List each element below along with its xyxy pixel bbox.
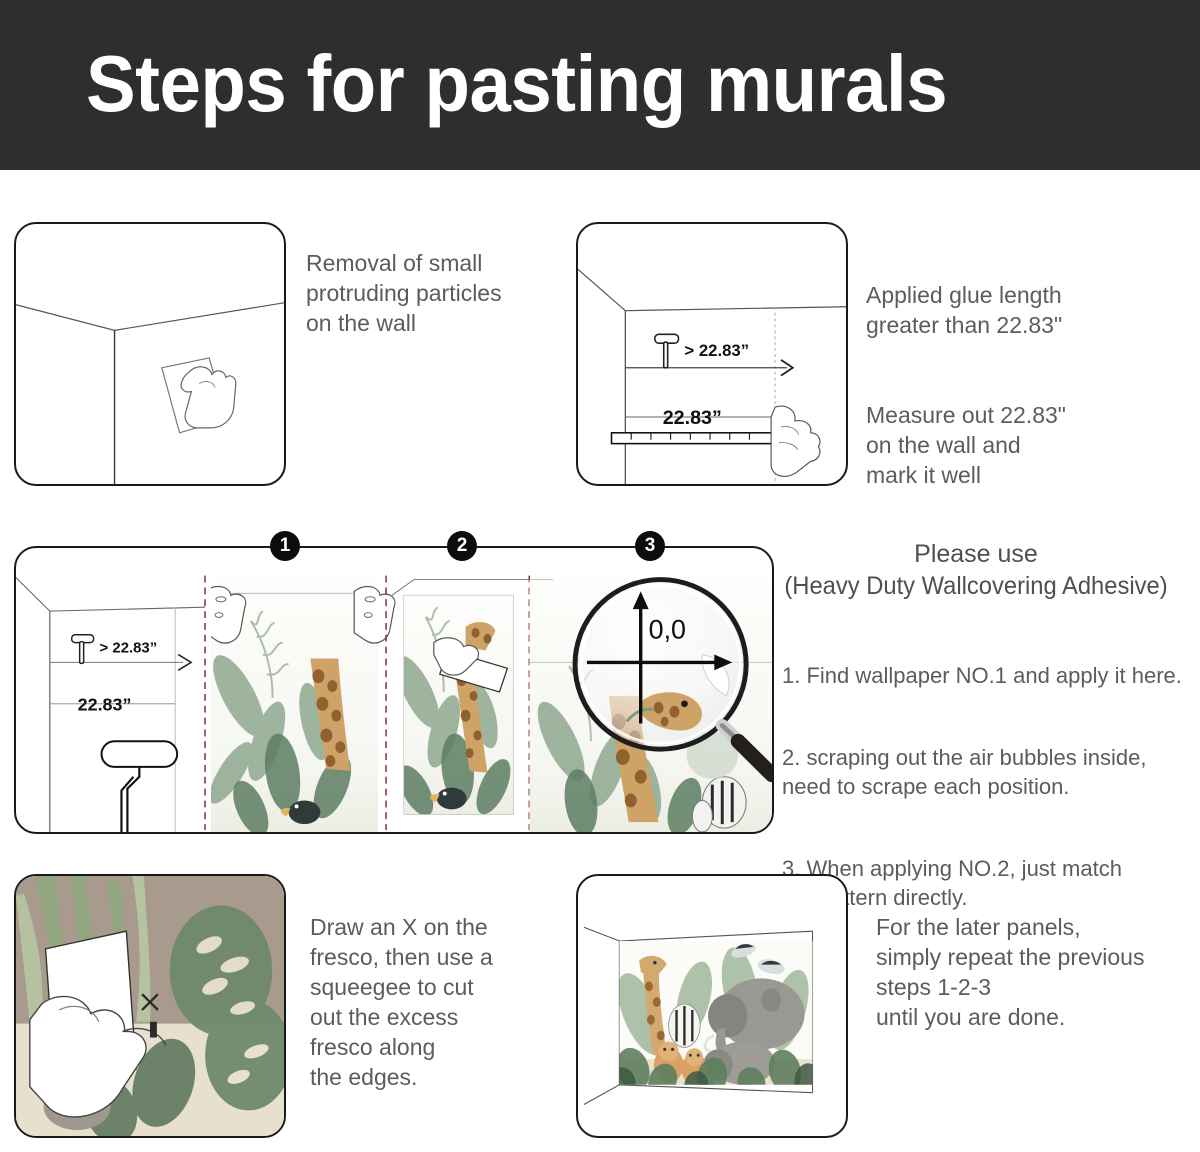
panel-step4-trim-excess xyxy=(14,874,286,1138)
panel-step2-glue-and-measure: > 22.83” 22.83” xyxy=(576,222,848,486)
roller-length-label: > 22.83” xyxy=(684,341,749,360)
step-badge-2: 2 xyxy=(447,531,477,561)
page-title: Steps for pasting murals xyxy=(86,36,947,132)
caption-step1: Removal of small protruding particles on… xyxy=(306,248,576,338)
wall-corner-illustration xyxy=(16,224,284,484)
caption-step2-measure: Measure out 22.83" on the wall and mark … xyxy=(866,400,1186,490)
finished-mural-illustration xyxy=(578,876,846,1136)
wide-tape-label: 22.83” xyxy=(78,695,132,715)
origin-label: 0,0 xyxy=(649,615,686,645)
panel-step1-wall-preparation xyxy=(14,222,286,486)
step-badge-3: 3 xyxy=(635,531,665,561)
adhesive-heading: Please use (Heavy Duty Wallcovering Adhe… xyxy=(766,538,1186,602)
caption-step4: Draw an X on the fresco, then use a sque… xyxy=(310,912,560,1092)
step-badge-1: 1 xyxy=(270,531,300,561)
apply-panels-illustration: > 22.83” 22.83” xyxy=(16,548,772,832)
trim-excess-illustration xyxy=(16,876,284,1136)
tape-length-label: 22.83” xyxy=(663,407,722,429)
instruction-sheet: Steps for pasting murals Removal of smal… xyxy=(0,0,1200,1152)
adhesive-heading-line1: Please use xyxy=(914,540,1038,568)
adhesive-step-2: 2. scraping out the air bubbles inside, … xyxy=(782,743,1200,801)
caption-step2-glue: Applied glue length greater than 22.83" xyxy=(866,280,1186,340)
panel-step5-repeat-panels xyxy=(576,874,848,1138)
wide-roller-label: > 22.83” xyxy=(100,641,158,657)
adhesive-heading-line2: (Heavy Duty Wallcovering Adhesive) xyxy=(777,570,1176,602)
adhesive-step-1: 1. Find wallpaper NO.1 and apply it here… xyxy=(782,661,1200,690)
caption-step5: For the later panels, simply repeat the … xyxy=(876,912,1200,1032)
glue-measure-illustration: > 22.83” 22.83” xyxy=(578,224,846,484)
panel-step3-apply-panels: > 22.83” 22.83” xyxy=(14,546,774,834)
